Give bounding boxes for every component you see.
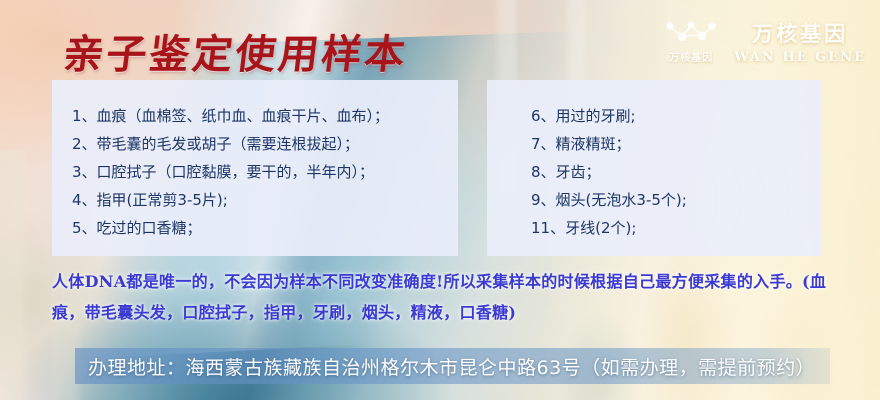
page-title: 亲子鉴定使用样本	[60, 22, 411, 80]
list-item: 8、牙齿；	[507, 158, 804, 186]
list-item: 3、口腔拭子（口腔黏膜，要干的，半年内）；	[72, 158, 440, 186]
logo-wordmark: 万核基因 WAN HE GENE	[734, 18, 866, 65]
logo-name-cn: 万核基因	[752, 18, 848, 48]
logo-name-en: WAN HE GENE	[734, 50, 866, 65]
list-item: 1、血痕（血棉签、纸巾血、血痕干片、血布）；	[72, 102, 440, 130]
molecule-icon	[662, 20, 720, 46]
sample-list-panel-left: 1、血痕（血棉签、纸巾血、血痕干片、血布）； 2、带毛囊的毛发或胡子（需要连根拔…	[52, 80, 458, 256]
list-item: 2、带毛囊的毛发或胡子（需要连根拔起）；	[72, 130, 440, 158]
note-paragraph: 人体DNA都是唯一的，不会因为样本不同改变准确度!所以采集样本的时候根据自己最方…	[52, 266, 842, 328]
list-item: 4、指甲(正常剪3-5片);	[72, 186, 440, 214]
list-item: 9、烟头(无泡水3-5个);	[507, 186, 804, 214]
list-item: 11、牙线(2个);	[507, 214, 804, 242]
brand-logo: 万核基因 万核基因 WAN HE GENE	[662, 18, 866, 65]
address-text: 办理地址：海西蒙古族藏族自治州格尔木市昆仑中路63号（如需办理，需提前预约）	[88, 350, 880, 382]
sample-list-panel-right: 6、用过的牙刷; 7、精液精斑； 8、牙齿； 9、烟头(无泡水3-5个); 11…	[487, 80, 822, 256]
list-item: 5、吃过的口香糖；	[72, 214, 440, 242]
list-item: 6、用过的牙刷;	[507, 102, 804, 130]
promo-poster: 亲子鉴定使用样本	[0, 0, 880, 400]
logo-mark: 万核基因	[662, 20, 720, 64]
logo-mark-label: 万核基因	[669, 49, 713, 64]
list-item: 7、精液精斑；	[507, 130, 804, 158]
